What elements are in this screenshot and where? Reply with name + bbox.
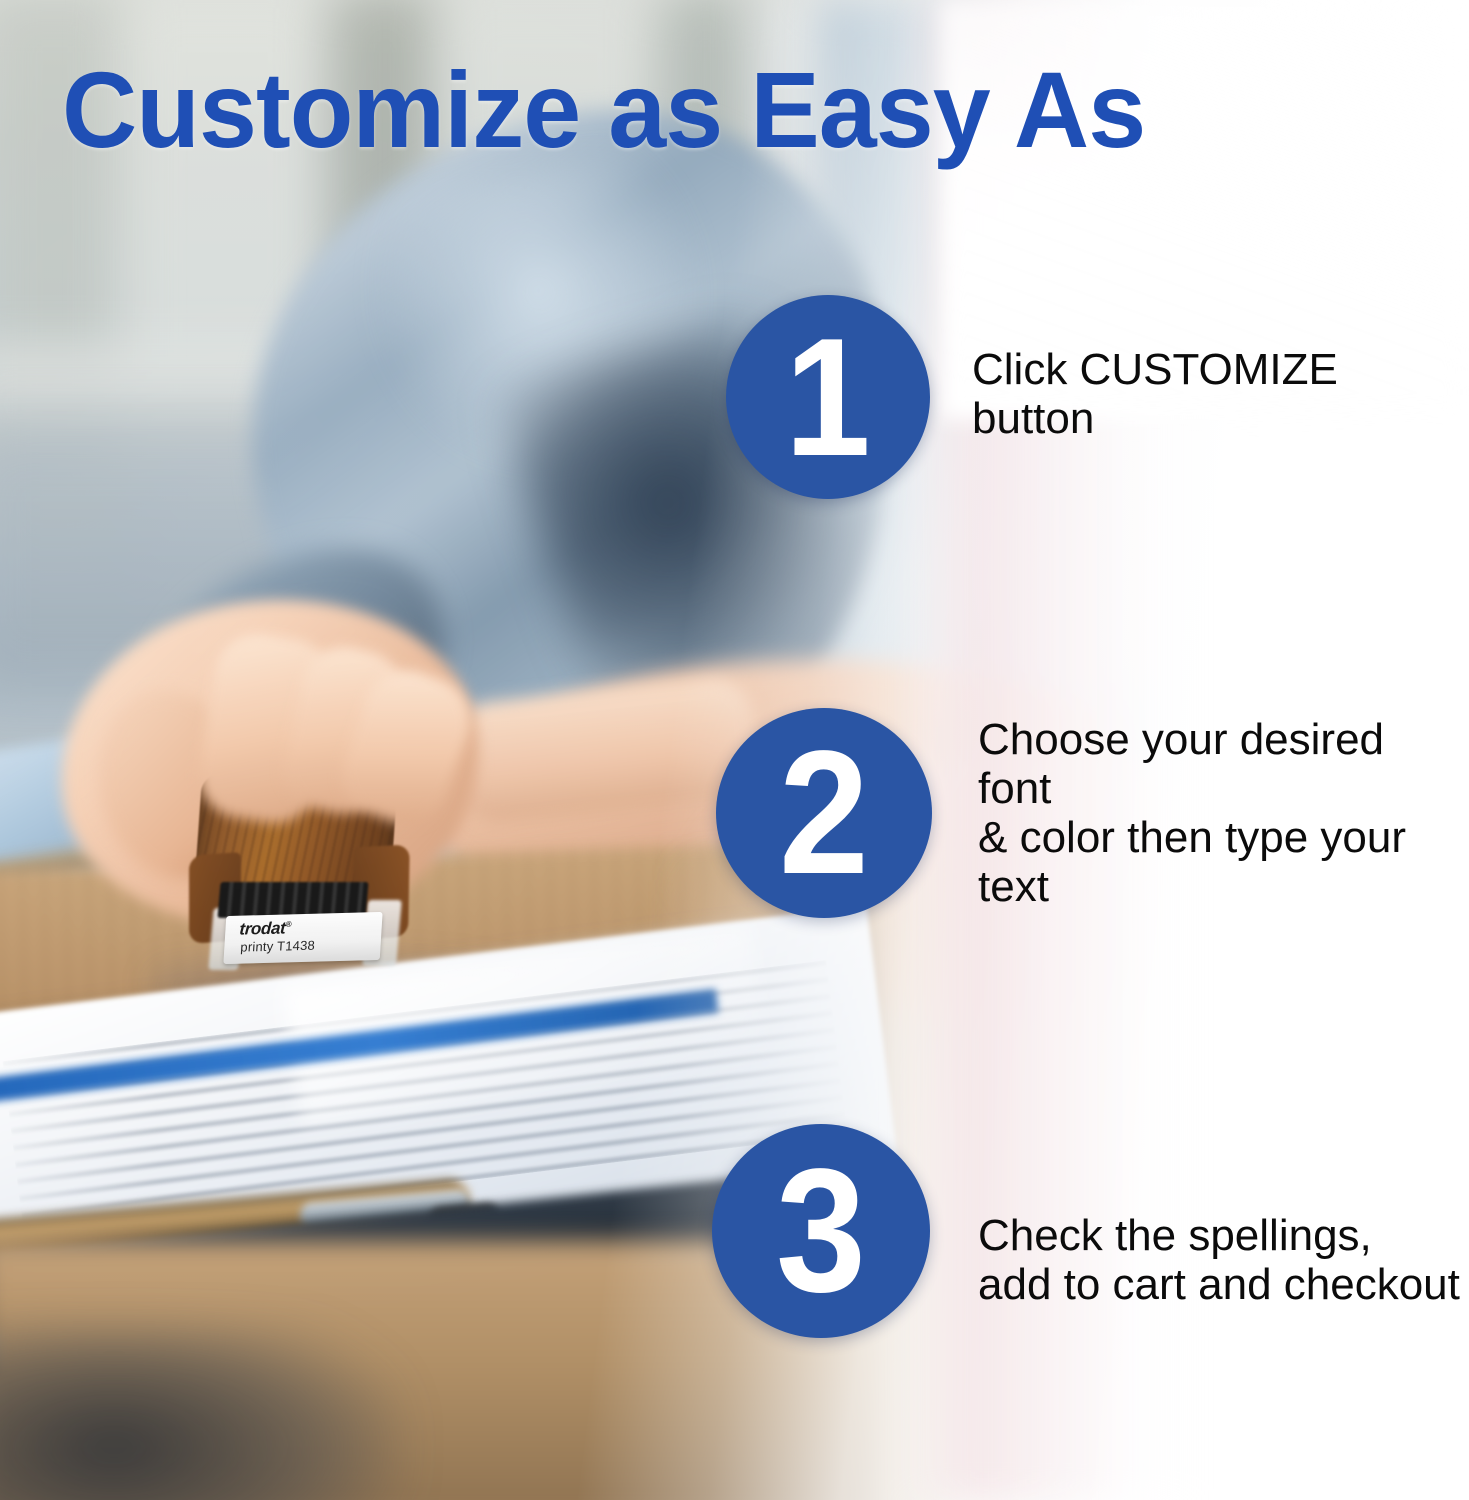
step-description-3: Check the spellings, add to cart and che…: [978, 1211, 1460, 1309]
step-item-1: 1 Click CUSTOMIZE button: [726, 295, 1338, 499]
step-number-badge-1: 1: [726, 295, 930, 499]
step-description-2: Choose your desired font & color then ty…: [978, 715, 1469, 911]
step-item-3: 3 Check the spellings, add to cart and c…: [712, 1124, 1460, 1338]
step-number-badge-2: 2: [716, 708, 932, 918]
step-number-badge-3: 3: [712, 1124, 930, 1338]
infographic-stage: trodat® printy T1438 Customize as Easy A…: [0, 0, 1469, 1500]
step-item-2: 2 Choose your desired font & color then …: [716, 708, 1469, 918]
step-description-1: Click CUSTOMIZE button: [972, 345, 1338, 443]
page-title: Customize as Easy As: [62, 58, 1403, 162]
step-number-2: 2: [779, 725, 869, 901]
step-number-1: 1: [785, 313, 871, 481]
step-number-3: 3: [776, 1143, 866, 1319]
